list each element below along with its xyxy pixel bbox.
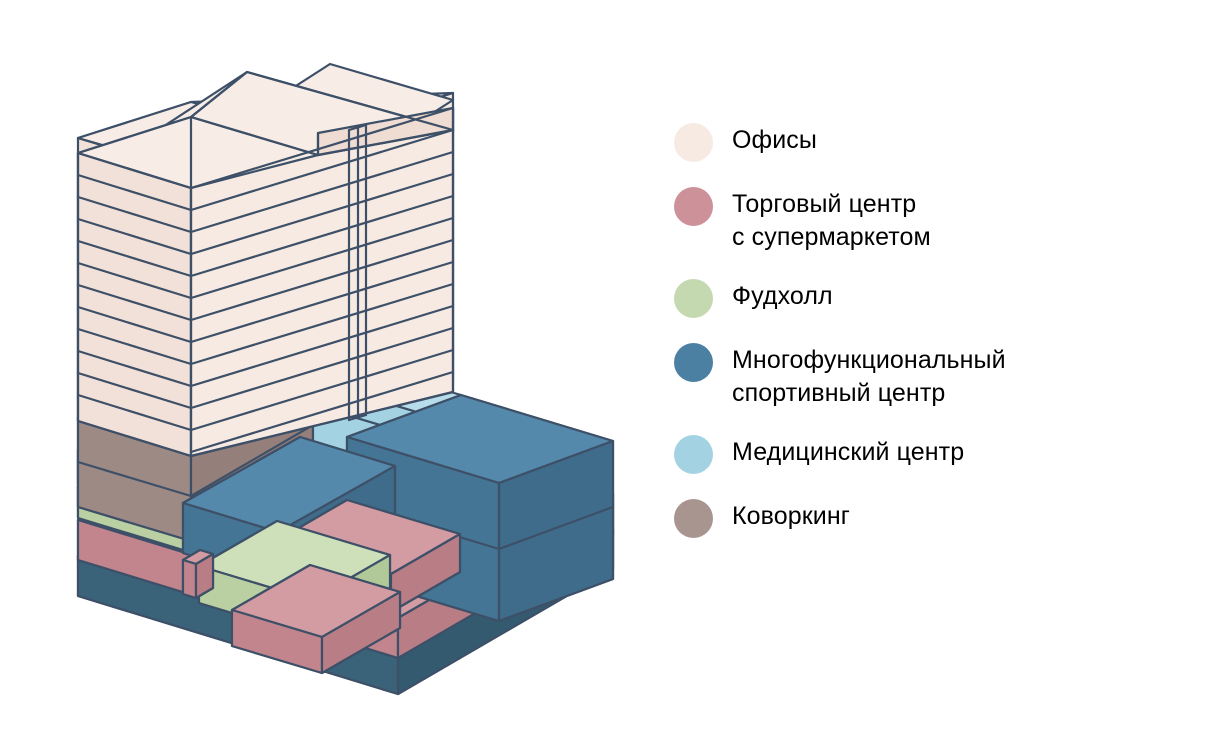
legend-label-foodhall: Фудхолл (732, 278, 833, 313)
building-legend-diagram: Офисы Торговый центр с супермаркетом Фуд… (0, 0, 1214, 755)
legend-item-foodhall[interactable]: Фудхолл (674, 278, 1194, 318)
isometric-building-illustration (0, 0, 660, 755)
swatch-offices-icon (674, 123, 713, 162)
legend-label-offices: Офисы (732, 122, 817, 157)
swatch-foodhall-icon (674, 279, 713, 318)
legend: Офисы Торговый центр с супермаркетом Фуд… (674, 122, 1194, 562)
swatch-coworking-icon (674, 499, 713, 538)
legend-item-coworking[interactable]: Коворкинг (674, 498, 1194, 538)
swatch-sport-icon (674, 343, 713, 382)
legend-label-coworking: Коворкинг (732, 498, 850, 533)
swatch-retail-icon (674, 187, 713, 226)
legend-label-sport: Многофункциональный спортивный центр (732, 342, 1006, 410)
legend-label-retail: Торговый центр с супермаркетом (732, 186, 931, 254)
legend-item-sport[interactable]: Многофункциональный спортивный центр (674, 342, 1194, 410)
legend-item-retail[interactable]: Торговый центр с супермаркетом (674, 186, 1194, 254)
legend-label-medical: Медицинский центр (732, 434, 964, 469)
legend-item-medical[interactable]: Медицинский центр (674, 434, 1194, 474)
swatch-medical-icon (674, 435, 713, 474)
retail-notch-connector (183, 550, 213, 598)
legend-item-offices[interactable]: Офисы (674, 122, 1194, 162)
